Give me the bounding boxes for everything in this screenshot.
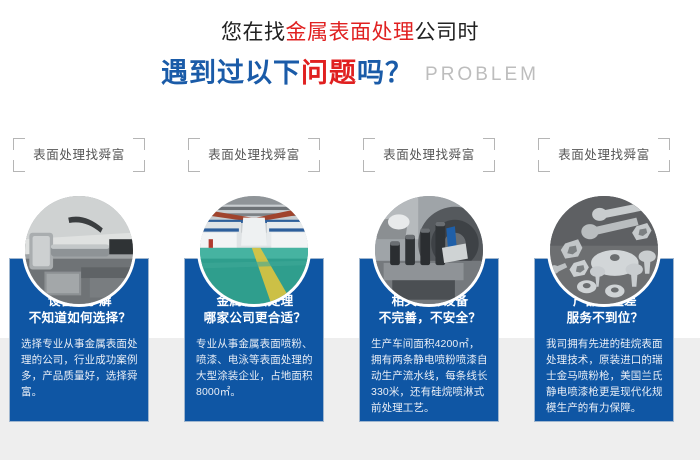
card-tag: 表面处理找舜富 [188,138,320,172]
header-line-2: 遇到过以下问题吗？PROBLEM [0,54,700,94]
problem-card-list: 表面处理找舜富 设备不了解 不知道如何选择？ 选择专业从事金属表面处理的公司，行… [0,138,700,438]
card-tag-label: 表面处理找舜富 [188,138,320,172]
card-tag: 表面处理找舜富 [13,138,145,172]
cnc-lathe-illustration [25,196,133,304]
problem-card[interactable]: 表面处理找舜富 相关特种设备 不完善，不安全？ 生产车间面积4200㎡，拥有两条… [359,138,499,428]
problem-card[interactable]: 表面处理找舜富 设备不了解 不知道如何选择？ 选择专业从事金属表面处理的公司，行… [9,138,149,428]
tooling-closeup-illustration [375,196,483,304]
header-line1-accent: 金属表面处理 [286,21,415,44]
card-title-line-2: 哪家公司更合适？ [192,310,318,327]
header-line1-suffix: 公司时 [415,21,480,44]
card-text-block: 金属表面处理 哪家公司更合适？ 专业从事金属表面喷粉、喷漆、电泳等表面处理的大型… [185,293,325,400]
card-body-text: 生产车间面积4200㎡，拥有两条静电喷粉喷漆自动生产流水线，每条线长330米，还… [367,336,493,416]
problem-label: PROBLEM [425,64,539,85]
header-line-1: 您在找金属表面处理公司时 [0,18,700,48]
card-tag-label: 表面处理找舜富 [363,138,495,172]
card-title-line-2: 不完善，不安全？ [367,310,493,327]
card-text-block: 相关特种设备 不完善，不安全？ 生产车间面积4200㎡，拥有两条静电喷粉喷漆自动… [360,293,500,416]
card-text-block: 产品质量差 服务不到位？ 我司拥有先进的硅烷表面处理技术，原装进口的瑞士金马喷粉… [535,293,675,416]
card-tag: 表面处理找舜富 [363,138,495,172]
coated-bolts-nuts-washers-photo [550,196,658,304]
problem-card[interactable]: 表面处理找舜富 金属表面处理 哪家公司更合适？ 专业从事金属表面喷粉、喷漆、电泳… [184,138,324,428]
card-photo [22,193,136,307]
header-line2-accent: 问题 [301,58,357,88]
card-body-text: 专业从事金属表面喷粉、喷漆、电泳等表面处理的大型涂装企业，占地面积8000㎡。 [192,336,318,400]
special-equipment-tooling-photo [375,196,483,304]
header-line2-part1: 遇到过以下 [161,58,301,88]
card-text-block: 设备不了解 不知道如何选择？ 选择专业从事金属表面处理的公司，行业成功案例多，产… [10,293,150,400]
cnc-lathe-machine-photo [25,196,133,304]
header-line2-part2: 吗？ [357,58,413,88]
card-title-line-2: 服务不到位？ [542,310,668,327]
header-line1-prefix: 您在找 [221,21,286,44]
problem-section: 您在找金属表面处理公司时 遇到过以下问题吗？PROBLEM 表面处理找舜富 设备… [0,0,700,460]
card-tag-label: 表面处理找舜富 [538,138,670,172]
card-photo [547,193,661,307]
problem-card[interactable]: 表面处理找舜富 产品质量差 服务不到位？ 我司拥有先进的硅烷表面处理技术，原装进… [534,138,674,428]
card-tag: 表面处理找舜富 [538,138,670,172]
workshop-corridor-illustration [200,196,308,304]
card-title-line-2: 不知道如何选择？ [17,310,143,327]
card-tag-label: 表面处理找舜富 [13,138,145,172]
card-body-text: 我司拥有先进的硅烷表面处理技术，原装进口的瑞士金马喷粉枪，美国兰氏静电喷漆枪更是… [542,336,668,416]
factory-workshop-corridor-photo [200,196,308,304]
section-header: 您在找金属表面处理公司时 遇到过以下问题吗？PROBLEM [0,18,700,94]
card-photo [372,193,486,307]
fasteners-illustration [550,196,658,304]
card-body-text: 选择专业从事金属表面处理的公司，行业成功案例多，产品质量好，选择舜富。 [17,336,143,400]
card-photo [197,193,311,307]
